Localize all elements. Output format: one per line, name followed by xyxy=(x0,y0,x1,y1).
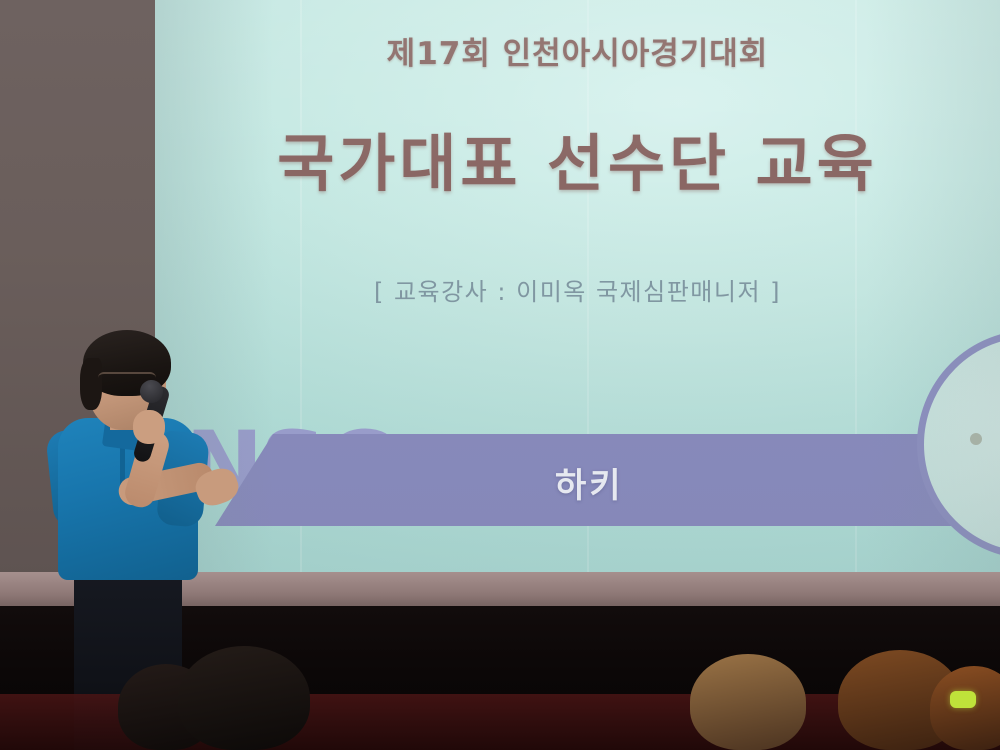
slide-banner-label: 하키 xyxy=(555,458,624,507)
speaker-left-hand xyxy=(133,410,165,444)
slide-kicker-text: 제17회 인천아시아경기대회 xyxy=(155,28,1000,73)
audience-head xyxy=(178,646,310,750)
hair-tie-accessory xyxy=(950,691,976,708)
badge-dot xyxy=(970,433,982,445)
projection-screen: 제17회 인천아시아경기대회 국가대표 선수단 교육 [ 교육강사 : 이미옥 … xyxy=(155,0,1000,578)
audience-head xyxy=(690,654,806,750)
photo-scene: 제17회 인천아시아경기대회 국가대표 선수단 교육 [ 교육강사 : 이미옥 … xyxy=(0,0,1000,750)
slide-subtitle-text: [ 교육강사 : 이미옥 국제심판매니저 ] xyxy=(155,272,1000,307)
slide-title-text: 국가대표 선수단 교육 xyxy=(155,113,1000,203)
